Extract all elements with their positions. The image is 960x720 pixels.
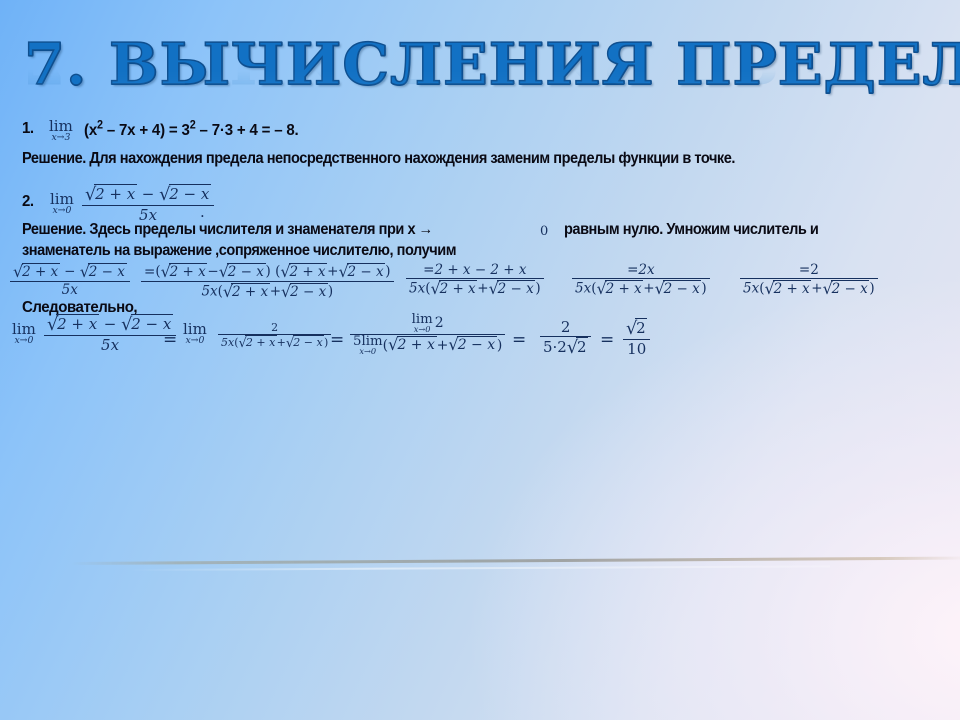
- plus-sign: +: [277, 336, 286, 349]
- right-paren: ): [497, 337, 502, 353]
- item-2-trailing-dot: .: [200, 203, 205, 221]
- item-1-expression: (x2 – 7x + 4) = 32 – 7·3 + 4 = – 8.: [84, 120, 299, 140]
- final-fraction-limits: limx→02 5limx→0(√2 + x+√2 − x): [350, 313, 505, 355]
- radicand-minus: 2 − x: [290, 283, 328, 300]
- derivation-term-2: =(√2 + x−√2 − x) (√2 + x+√2 − x) 5x(√2 +…: [141, 262, 394, 301]
- radicand-minus: 2 − x: [227, 263, 265, 280]
- radicand-plus: 2 + x: [605, 280, 643, 297]
- lim-subscript: x→0: [12, 336, 36, 345]
- item-1-limit-operator: lim x→3: [49, 119, 73, 142]
- equals-sign: =: [799, 262, 810, 278]
- two: 2: [635, 318, 647, 337]
- two-x: 2x: [638, 262, 654, 278]
- fraction-numerator: √2 + x − √2 − x: [44, 314, 176, 336]
- plus-sign: +: [327, 264, 338, 280]
- slide-canvas: 7. ВЫЧИСЛЕНИЯ ПРЕДЕЛОВ 7. ВЫЧИСЛЕНИЯ ПРЕ…: [0, 0, 960, 720]
- fraction-denominator: 5x(√2 + x+√2 − x): [406, 279, 544, 298]
- final-limit-operator: lim x→0: [12, 322, 36, 345]
- final-result-fraction: √2 10: [623, 318, 650, 358]
- five-x: 5x: [409, 281, 425, 297]
- fraction-denominator: 5x: [44, 336, 176, 354]
- five-x: 5x: [221, 336, 234, 349]
- fraction-numerator: √2 + x − √2 − x: [10, 262, 130, 282]
- five-x: 5x: [575, 281, 591, 297]
- derivation-term-5: =2 5x(√2 + x+√2 − x): [740, 262, 878, 298]
- radicand-plus: 2 + x: [231, 283, 269, 300]
- fraction-denominator: 5x(√2 + x+√2 − x): [141, 282, 394, 301]
- final-fraction-left: √2 + x − √2 − x 5x: [44, 314, 176, 354]
- fraction-denominator: 5limx→0(√2 + x+√2 − x): [350, 335, 505, 356]
- final-limit-operator-2: lim x→0: [183, 322, 207, 345]
- fraction-numerator: 2: [218, 321, 331, 335]
- fraction-numerator: =2x: [572, 262, 710, 279]
- radicand-minus: 2 − x: [293, 335, 324, 349]
- item-2-solution-text-part3: знаменатель на выражение ,сопряженное чи…: [22, 242, 456, 260]
- fraction-denominator: 5·2√2: [540, 337, 591, 358]
- right-paren: ): [266, 264, 271, 280]
- item-1-expression-text: (x2 – 7x + 4) = 32 – 7·3 + 4 = – 8.: [84, 122, 299, 139]
- radicand-minus: 2 − x: [663, 280, 701, 297]
- radicand-minus: 2 − x: [347, 263, 385, 280]
- fraction-denominator: 10: [623, 340, 650, 358]
- fraction-numerator: 2: [540, 318, 591, 337]
- item-1-solution-text: Решение. Для нахождения предела непосред…: [22, 148, 873, 169]
- minus-sign: −: [207, 264, 218, 280]
- derivation-term-1: √2 + x − √2 − x 5x: [10, 262, 130, 298]
- fraction-numerator: =2: [740, 262, 878, 279]
- radicand-minus: 2 − x: [831, 280, 869, 297]
- equals-sign-1: =: [163, 330, 177, 350]
- radicand-plus: 2 + x: [439, 280, 477, 297]
- radicand-plus: 2 + x: [289, 263, 327, 280]
- fraction-numerator: √2 + x − √2 − x: [82, 184, 214, 206]
- radicand-minus: 2 − x: [169, 184, 212, 203]
- right-paren: ): [324, 336, 328, 349]
- item-2-number: 2.: [22, 193, 34, 211]
- fraction-denominator: 5x: [10, 282, 130, 298]
- radicand-plus: 2 + x: [56, 314, 99, 333]
- item-1-number: 1.: [22, 120, 34, 138]
- item-2-solution-limit-value: 0: [540, 224, 548, 239]
- two: 2: [810, 262, 819, 278]
- item-2-solution-text-part1: Решение. Здесь пределы числителя и знаме…: [22, 221, 433, 239]
- equals-sign-4: =: [600, 330, 614, 350]
- radicand-plus: 2 + x: [245, 335, 276, 349]
- equals-sign-3: =: [512, 330, 526, 350]
- equals-sign: =: [627, 262, 638, 278]
- five-x: 5x: [201, 284, 217, 300]
- lim-subscript: x→0: [183, 336, 207, 345]
- plus-sign: +: [811, 281, 822, 297]
- radicand-minus: 2 − x: [88, 263, 126, 280]
- equals-sign-2: =: [330, 330, 344, 350]
- fraction-numerator: limx→02: [350, 313, 505, 335]
- plus-sign: +: [477, 281, 488, 297]
- fraction-numerator: =(√2 + x−√2 − x) (√2 + x+√2 − x): [141, 262, 394, 282]
- two: 2: [435, 315, 444, 331]
- radicand-plus: 2 + x: [94, 184, 137, 203]
- plus-sign: +: [437, 337, 449, 353]
- right-paren: ): [328, 284, 333, 300]
- fraction-denominator: 5x(√2 + x+√2 − x): [572, 279, 710, 298]
- lim-subscript: x→0: [412, 325, 433, 333]
- equals-sign: =: [423, 262, 434, 278]
- right-paren: ): [701, 281, 706, 297]
- two: 2: [576, 337, 588, 356]
- right-paren: ): [869, 281, 874, 297]
- derivation-term-3: =2 + x − 2 + x 5x(√2 + x+√2 − x): [406, 262, 544, 298]
- lim-subscript: x→3: [49, 133, 73, 142]
- five-x: 5x: [743, 281, 759, 297]
- expanded-numerator: 2 + x − 2 + x: [434, 262, 526, 278]
- radicand-plus: 2 + x: [773, 280, 811, 297]
- fraction-denominator: 5x(√2 + x+√2 − x): [740, 279, 878, 298]
- minus-sign: −: [142, 185, 155, 203]
- item-2-fraction: √2 + x − √2 − x 5x: [82, 184, 214, 224]
- minus-sign: −: [64, 264, 75, 280]
- item-2-limit-operator: lim x→0: [50, 192, 74, 215]
- lim-subscript: x→0: [50, 206, 74, 215]
- fraction-numerator: =2 + x − 2 + x: [406, 262, 544, 279]
- radicand-plus: 2 + x: [22, 263, 60, 280]
- radicand-plus: 2 + x: [397, 336, 437, 353]
- decorative-sweep-line-highlight: [130, 565, 830, 571]
- title-block: 7. ВЫЧИСЛЕНИЯ ПРЕДЕЛОВ 7. ВЫЧИСЛЕНИЯ ПРЕ…: [24, 34, 936, 112]
- equals-sign: =: [144, 264, 155, 280]
- fraction-denominator: 5x(√2 + x+√2 − x): [218, 335, 331, 351]
- item-2-solution-text-part2: равным нулю. Умножим числитель и: [564, 221, 818, 239]
- right-paren: ): [385, 264, 390, 280]
- final-fraction-numeric: 2 5·2√2: [540, 318, 591, 358]
- plus-sign: +: [643, 281, 654, 297]
- right-paren: ): [535, 281, 540, 297]
- radicand-minus: 2 − x: [457, 336, 497, 353]
- radicand-minus: 2 − x: [497, 280, 535, 297]
- page-title-reflection: 7. ВЫЧИСЛЕНИЯ ПРЕДЕЛОВ: [24, 58, 960, 92]
- decorative-sweep-line: [70, 557, 960, 565]
- minus-sign: −: [104, 315, 117, 333]
- final-fraction-mid: 2 5x(√2 + x+√2 − x): [218, 321, 331, 351]
- radicand-plus: 2 + x: [169, 263, 207, 280]
- fraction-numerator: √2: [623, 318, 650, 340]
- derivation-term-4: =2x 5x(√2 + x+√2 − x): [572, 262, 710, 298]
- plus-sign: +: [270, 284, 281, 300]
